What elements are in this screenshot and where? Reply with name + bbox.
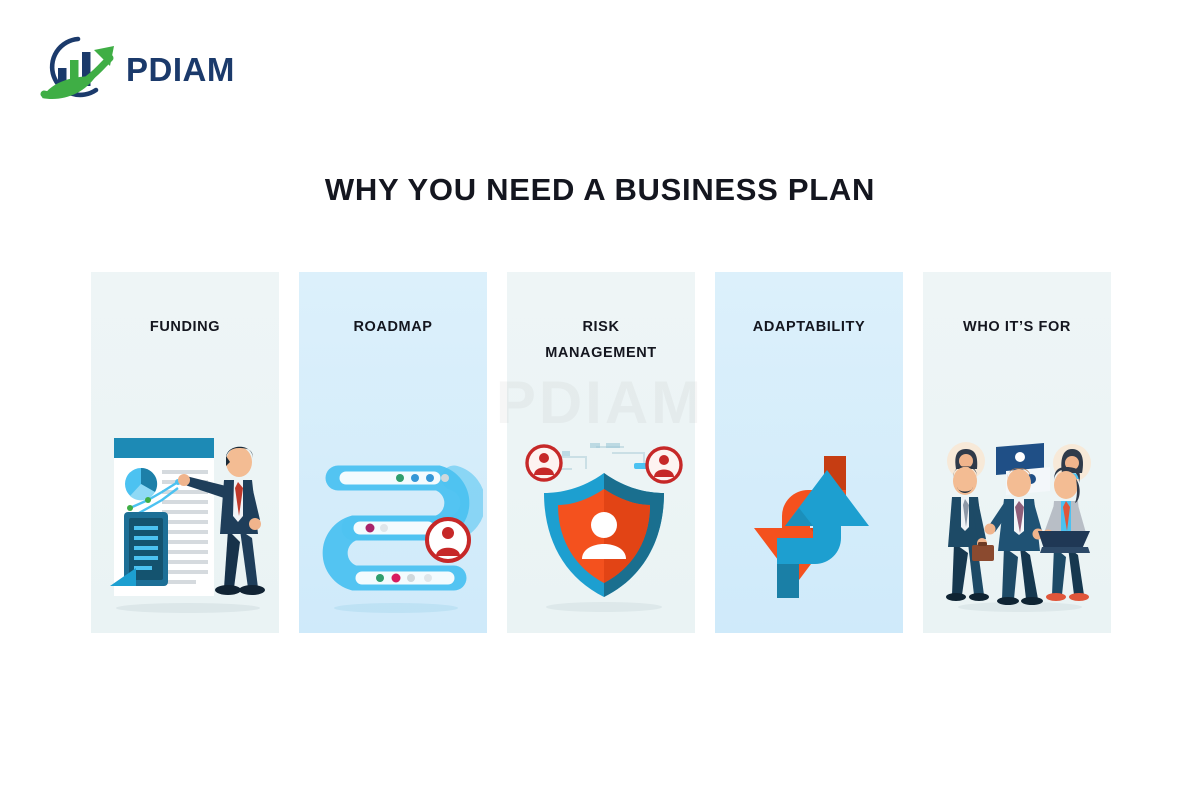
card-label-adaptability: ADAPTABILITY xyxy=(719,315,899,341)
cycle-arrows-icon xyxy=(724,440,899,615)
brand-logo: PDIAM xyxy=(32,32,235,104)
protection-shield-user-icon xyxy=(516,435,691,615)
card-label-who-its-for: WHO IT’S FOR xyxy=(927,315,1107,341)
bar-chart-growth-arrow-leaf-icon xyxy=(32,32,124,104)
card-label-funding: FUNDING xyxy=(95,315,275,341)
card-label-roadmap: ROADMAP xyxy=(303,315,483,341)
card-roadmap[interactable]: ROADMAP xyxy=(299,272,487,633)
risk-management-illustration xyxy=(507,425,699,615)
businessman-with-briefcase xyxy=(946,466,994,601)
businessman-presenting-report-icon xyxy=(100,430,275,615)
funding-illustration xyxy=(91,425,283,615)
card-label-line-1: RISK xyxy=(582,319,619,335)
card-label-risk-management: RISK MANAGEMENT xyxy=(511,315,691,367)
brand-name: PDIAM xyxy=(126,53,235,86)
card-adaptability[interactable]: ADAPTABILITY xyxy=(715,272,903,633)
page-title: WHY YOU NEED A BUSINESS PLAN xyxy=(0,172,1200,208)
roadmap-illustration xyxy=(299,425,491,615)
card-funding[interactable]: FUNDING xyxy=(91,272,279,633)
card-label-line-2: MANAGEMENT xyxy=(545,345,657,361)
winding-roadmap-path-icon xyxy=(308,440,483,615)
adaptability-illustration xyxy=(715,425,907,615)
card-who-its-for[interactable]: WHO IT’S FOR xyxy=(923,272,1111,633)
business-team-group-icon xyxy=(932,435,1107,615)
who-its-for-illustration xyxy=(923,425,1115,615)
card-risk-management[interactable]: RISK MANAGEMENT xyxy=(507,272,695,633)
benefit-card-row: FUNDING xyxy=(91,272,1111,633)
